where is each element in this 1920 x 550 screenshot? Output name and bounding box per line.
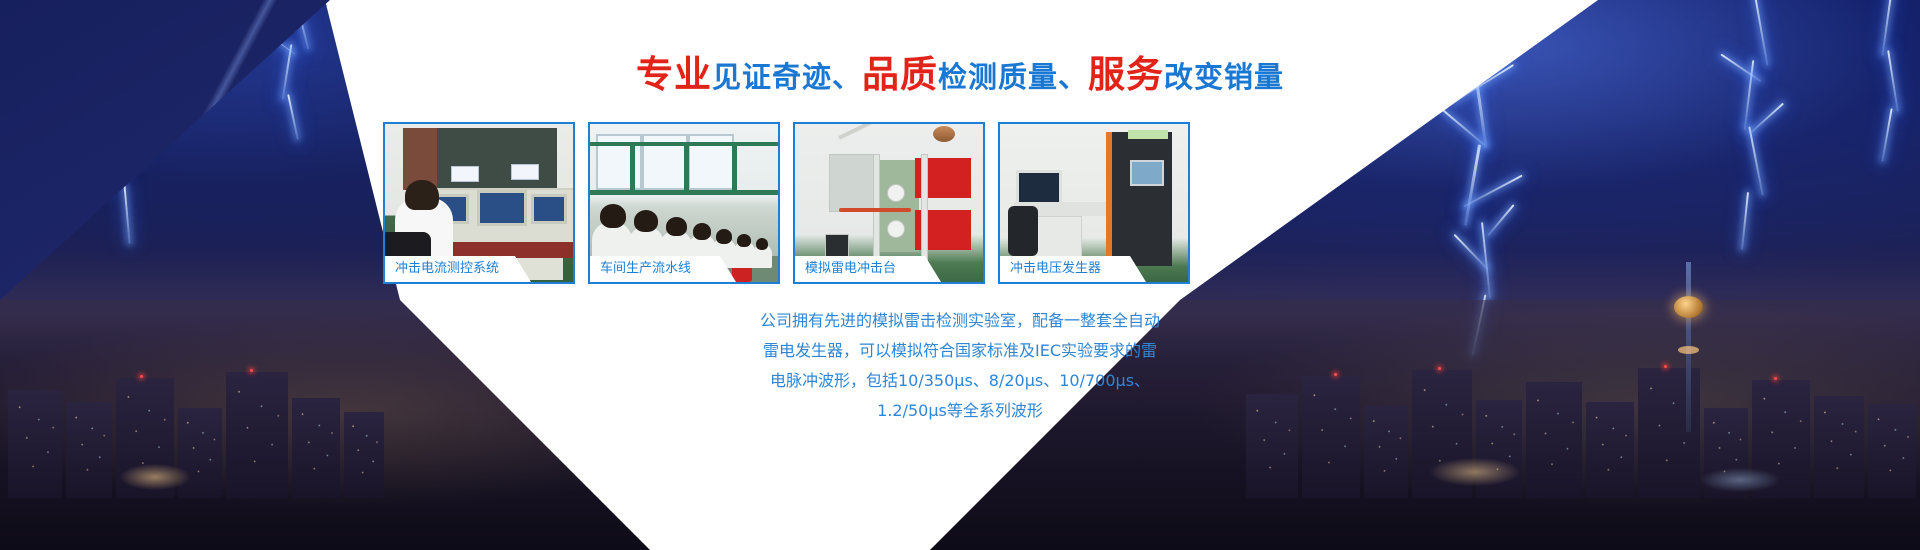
headline-seg-4: 检测质量、: [938, 60, 1088, 94]
description-line-3: 电脉冲波形，包括10/350μs、8/20μs、10/700μs、: [0, 366, 1920, 396]
headline-seg-6: 改变销量: [1164, 60, 1284, 94]
thumbnail-card-4[interactable]: 冲击电压发生器: [998, 122, 1190, 284]
headline-seg-3: 品质: [862, 53, 938, 96]
thumbnail-caption-4: 冲击电压发生器: [1000, 256, 1146, 282]
thumbnail-caption-1: 冲击电流测控系统: [385, 256, 531, 282]
description-line-4: 1.2/50μs等全系列波形: [0, 396, 1920, 426]
thumbnail-card-1[interactable]: 冲击电流测控系统: [383, 122, 575, 284]
headline-seg-5: 服务: [1088, 53, 1164, 96]
headline-seg-1: 专业: [636, 53, 712, 96]
description-paragraph: 公司拥有先进的模拟雷击检测实验室，配备一整套全自动 雷电发生器，可以模拟符合国家…: [0, 306, 1920, 426]
description-line-2: 雷电发生器，可以模拟符合国家标准及IEC实验要求的雷: [0, 336, 1920, 366]
thumbnail-caption-2: 车间生产流水线: [590, 256, 736, 282]
thumbnail-card-2[interactable]: 车间生产流水线: [588, 122, 780, 284]
thumbnail-card-3[interactable]: 模拟雷电冲击台: [793, 122, 985, 284]
hero-banner: 专业见证奇迹、品质检测质量、服务改变销量 冲击电流测控系统: [0, 0, 1920, 550]
headline: 专业见证奇迹、品质检测质量、服务改变销量: [0, 44, 1920, 98]
headline-seg-2: 见证奇迹、: [712, 60, 862, 94]
thumbnail-caption-3: 模拟雷电冲击台: [795, 256, 941, 282]
thumbnail-gallery: 冲击电流测控系统: [0, 122, 1920, 286]
description-line-1: 公司拥有先进的模拟雷击检测实验室，配备一整套全自动: [0, 306, 1920, 336]
